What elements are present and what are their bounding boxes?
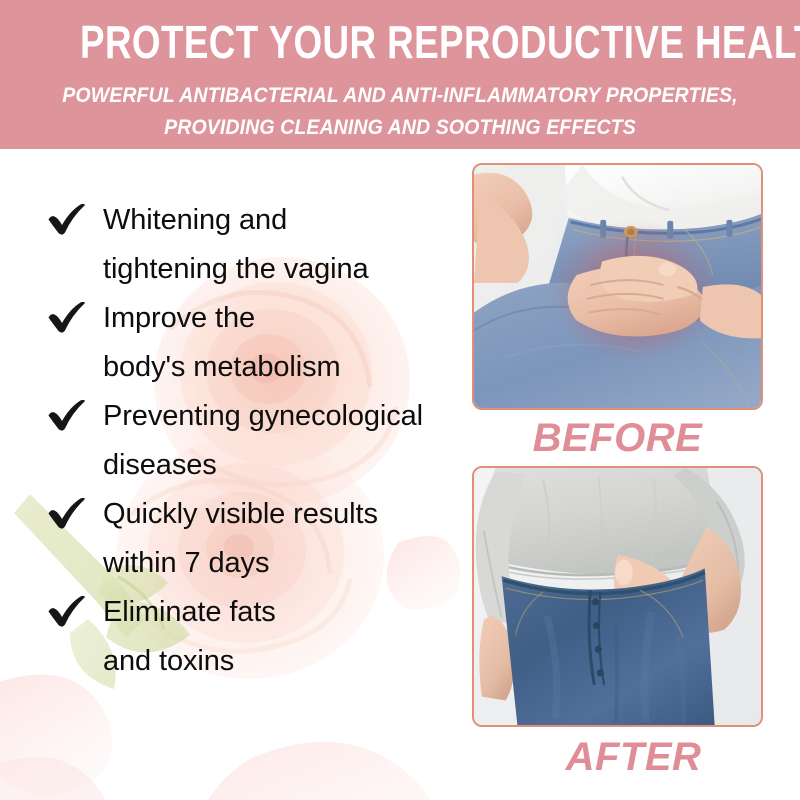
after-label: AFTER — [488, 737, 779, 777]
list-item-line-1: Preventing gynecological — [103, 392, 466, 441]
list-item-text: Improve the body's metabolism — [103, 294, 466, 392]
list-item-line-2: tightening the vagina — [103, 245, 466, 294]
benefits-list: Whitening and tightening the vagina Impr… — [46, 196, 466, 686]
check-icon — [46, 300, 86, 334]
list-item: Eliminate fats and toxins — [46, 588, 466, 686]
page-subtitle: POWERFUL ANTIBACTERIAL AND ANTI-INFLAMMA… — [28, 80, 772, 144]
before-photo — [474, 165, 761, 408]
check-icon — [46, 594, 86, 628]
check-icon — [46, 202, 86, 236]
list-item: Quickly visible results within 7 days — [46, 490, 466, 588]
list-item-text: Preventing gynecological diseases — [103, 392, 466, 490]
list-item-text: Quickly visible results within 7 days — [103, 490, 466, 588]
list-item-text: Eliminate fats and toxins — [103, 588, 466, 686]
product-benefit-poster: PROTECT YOUR REPRODUCTIVE HEALTH POWERFU… — [0, 0, 800, 800]
before-label: BEFORE — [472, 418, 763, 458]
subtitle-line-1: POWERFUL ANTIBACTERIAL AND ANTI-INFLAMMA… — [28, 80, 772, 112]
list-item-line-1: Quickly visible results — [103, 490, 466, 539]
list-item: Improve the body's metabolism — [46, 294, 466, 392]
list-item: Preventing gynecological diseases — [46, 392, 466, 490]
list-item-text: Whitening and tightening the vagina — [103, 196, 466, 294]
list-item-line-1: Eliminate fats — [103, 588, 466, 637]
header-banner: PROTECT YOUR REPRODUCTIVE HEALTH POWERFU… — [0, 0, 800, 149]
list-item-line-2: diseases — [103, 441, 466, 490]
after-photo — [474, 468, 761, 725]
list-item-line-2: within 7 days — [103, 539, 466, 588]
list-item-line-2: body's metabolism — [103, 343, 466, 392]
page-title: PROTECT YOUR REPRODUCTIVE HEALTH — [80, 19, 720, 65]
list-item-line-2: and toxins — [103, 637, 466, 686]
before-photo-frame — [472, 163, 763, 410]
check-icon — [46, 398, 86, 432]
check-icon — [46, 496, 86, 530]
list-item-line-1: Whitening and — [103, 196, 466, 245]
list-item: Whitening and tightening the vagina — [46, 196, 466, 294]
after-photo-frame — [472, 466, 763, 727]
subtitle-line-2: PROVIDING CLEANING AND SOOTHING EFFECTS — [28, 112, 772, 144]
list-item-line-1: Improve the — [103, 294, 466, 343]
